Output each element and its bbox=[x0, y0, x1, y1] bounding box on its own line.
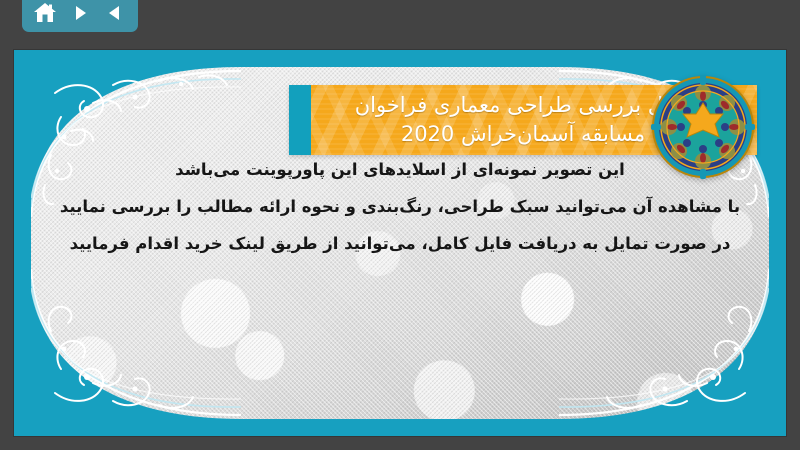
slide-title-line-1: کامل بررسی طراحی معماری فراخوان bbox=[355, 91, 692, 120]
slide-canvas: کامل بررسی طراحی معماری فراخوان مسابقه آ… bbox=[31, 67, 769, 419]
persian-medallion-ornament bbox=[651, 75, 755, 179]
next-slide-button[interactable] bbox=[66, 0, 94, 26]
islamic-arabesque-corner-bottom-left bbox=[31, 269, 241, 419]
slide-title-line-2: مسابقه آسمان‌خراش 2020 bbox=[401, 120, 645, 149]
presentation-window: کامل بررسی طراحی معماری فراخوان مسابقه آ… bbox=[0, 0, 800, 450]
triangle-right-icon bbox=[70, 3, 90, 23]
body-line-3: در صورت تمایل به دریافت فایل کامل، می‌تو… bbox=[31, 225, 769, 262]
triangle-left-icon bbox=[105, 3, 125, 23]
previous-slide-button[interactable] bbox=[101, 0, 129, 26]
home-button[interactable] bbox=[31, 0, 59, 26]
body-line-2: با مشاهده آن می‌توانید سبک طراحی، رنگ‌بن… bbox=[31, 188, 769, 225]
slide-frame: کامل بررسی طراحی معماری فراخوان مسابقه آ… bbox=[14, 50, 786, 436]
home-icon bbox=[33, 2, 57, 24]
islamic-arabesque-corner-bottom-right bbox=[559, 269, 769, 419]
slide-navigation-bar bbox=[22, 0, 138, 32]
islamic-arabesque-corner-top-left bbox=[31, 67, 241, 217]
